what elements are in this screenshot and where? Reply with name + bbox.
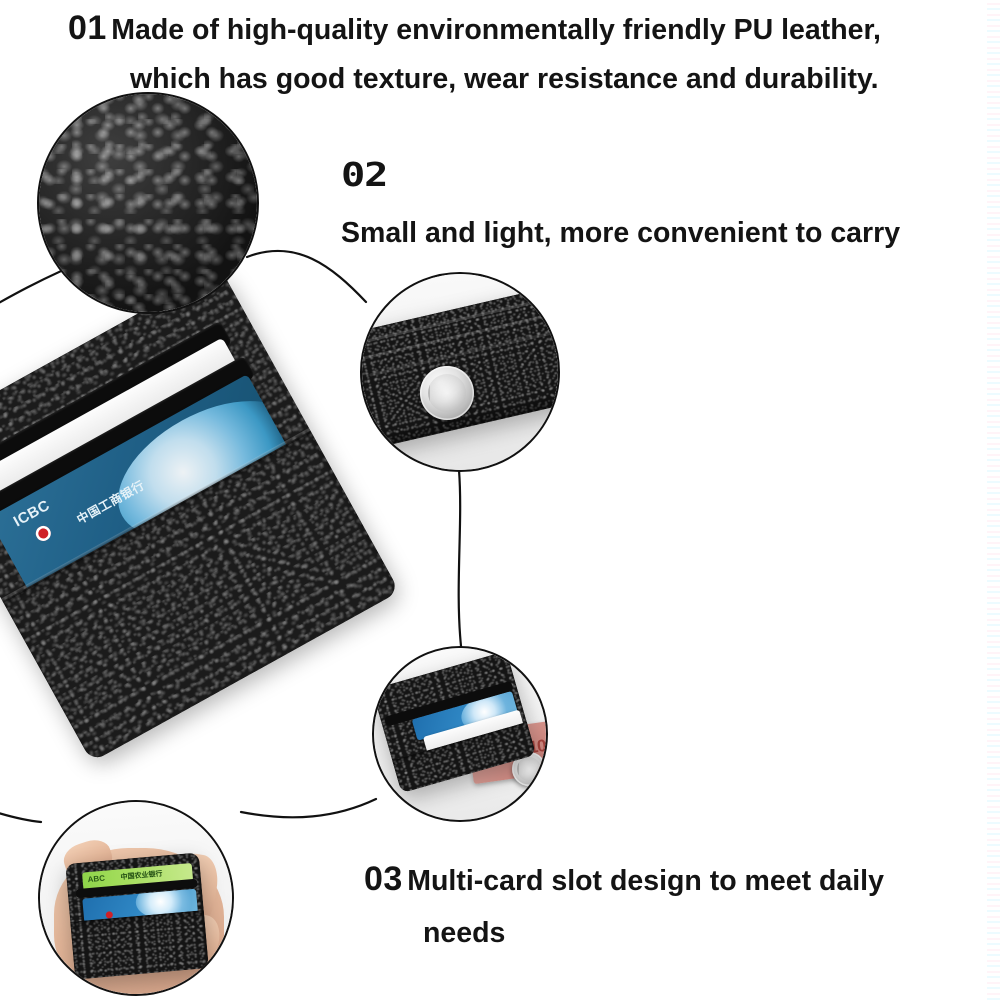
callout-circle-leather-texture xyxy=(37,92,259,314)
wallet-in-coin-scene xyxy=(362,285,558,448)
feature-text-01-line1: Made of high-quality environmentally fri… xyxy=(111,14,881,46)
callout-circle-in-hand: ABC 中国农业银行 xyxy=(38,800,234,996)
connector-path-hand-to-left xyxy=(0,800,41,822)
feature-text-03-line2: needs xyxy=(364,907,984,959)
coin-scene xyxy=(362,274,558,470)
connector-path-texture-to-coin xyxy=(247,251,366,302)
connector-path-money-to-hand xyxy=(241,799,376,817)
hand-scene-front-pocket xyxy=(70,910,209,979)
texture-shading-overlay xyxy=(39,94,257,312)
abc-brand-cn: 中国农业银行 xyxy=(120,869,163,883)
icbc-logo-icon xyxy=(33,524,53,544)
card-holder-body: ICBC 中国工商银行 xyxy=(0,268,400,762)
callout-circle-multi-slot: 100 xyxy=(372,646,548,822)
feature-text-02-line1: Small and light, more convenient to carr… xyxy=(341,216,981,250)
feature-number-03: 03 xyxy=(364,859,403,899)
silver-coin xyxy=(420,366,474,420)
hero-product-photo: ICBC 中国工商银行 xyxy=(0,300,380,770)
connector-path-coin-to-money xyxy=(459,470,461,646)
feature-block-02: 02 Small and light, more convenient to c… xyxy=(341,155,981,250)
edge-compression-artifact xyxy=(987,0,1000,1000)
feature-text-01-line2: which has good texture, wear resistance … xyxy=(68,55,968,104)
callout-circle-coin-scale xyxy=(360,272,560,472)
feature-number-01: 01 xyxy=(68,8,107,48)
feature-block-03: 03 Multi-card slot design to meet daily … xyxy=(364,855,984,959)
abc-brand-latin: ABC xyxy=(87,874,105,884)
infographic-canvas: ICBC 中国工商银行 1 xyxy=(0,0,1000,1000)
feature-number-02: 02 xyxy=(341,157,387,196)
hand-scene: ABC 中国农业银行 xyxy=(40,802,232,994)
money-scene: 100 xyxy=(374,648,546,820)
feature-block-01: 01 Made of high-quality environmentally … xyxy=(68,6,968,104)
feature-text-03-line1: Multi-card slot design to meet daily xyxy=(407,865,884,897)
wallet-in-hand: ABC 中国农业银行 xyxy=(65,852,209,979)
